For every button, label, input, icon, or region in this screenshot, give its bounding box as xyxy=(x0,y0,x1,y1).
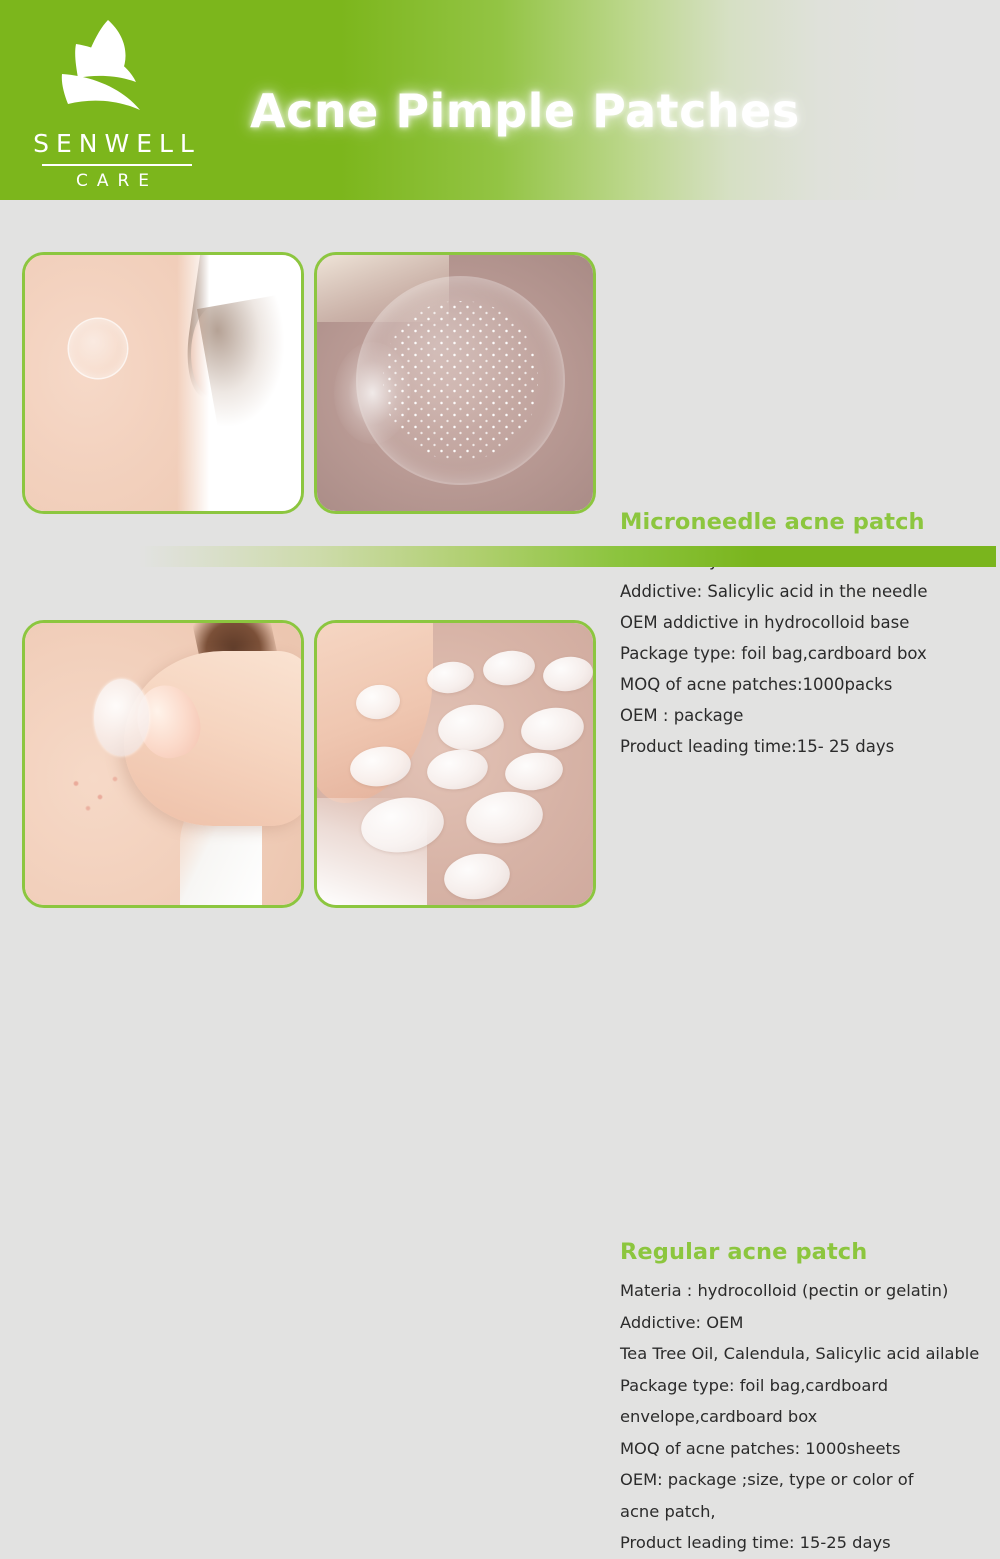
spec-line: MOQ of acne patches: 1000sheets xyxy=(620,1433,998,1465)
photo-patch-on-cheek xyxy=(22,252,304,514)
section-divider xyxy=(0,546,996,567)
spec-line: Product leading time: 15-25 days xyxy=(620,1527,998,1559)
spec-line: Tea Tree Oil, Calendula, Salicylic acid … xyxy=(620,1338,998,1370)
header-banner: SENWELL CARE Acne Pimple Patches xyxy=(0,0,1000,200)
regular-text-block: Regular acne patch Materia : hydrocolloi… xyxy=(620,1238,998,1559)
spec-line: Package type: foil bag,cardboard xyxy=(620,1370,998,1402)
section-regular: Regular acne patch Materia : hydrocolloi… xyxy=(0,620,1000,908)
section-heading-microneedle: Microneedle acne patch xyxy=(620,508,992,536)
spec-line: acne patch, xyxy=(620,1496,998,1528)
spec-line: OEM: package ;size, type or color of xyxy=(620,1464,998,1496)
photo-applying-patch xyxy=(22,620,304,908)
photo-patch-sheet xyxy=(314,620,596,908)
spec-line: Materia : hydrocolloid (pectin or gelati… xyxy=(620,1275,998,1307)
product-infographic: SENWELL CARE Acne Pimple Patches xyxy=(0,0,1000,1000)
brand-wordmark: SENWELL xyxy=(28,130,206,157)
patch-dots-grid xyxy=(317,623,593,905)
photo-microneedle-closeup xyxy=(314,252,596,514)
spec-line: Addictive: Salicylic acid in the needle xyxy=(620,576,992,607)
brand-logo: SENWELL CARE xyxy=(28,18,208,190)
section-microneedle: Microneedle acne patch Materia : hydroll… xyxy=(0,252,1000,514)
brand-tagline: CARE xyxy=(28,168,206,194)
spec-line: envelope,cardboard box xyxy=(620,1401,998,1433)
held-patch xyxy=(94,679,149,755)
patch-on-skin-highlight xyxy=(69,319,127,378)
brand-divider-rule xyxy=(42,164,192,166)
section-heading-regular: Regular acne patch xyxy=(620,1238,998,1266)
page-title: Acne Pimple Patches xyxy=(250,84,870,138)
spec-line: Addictive: OEM xyxy=(620,1307,998,1339)
leaf-flame-icon xyxy=(46,18,166,128)
